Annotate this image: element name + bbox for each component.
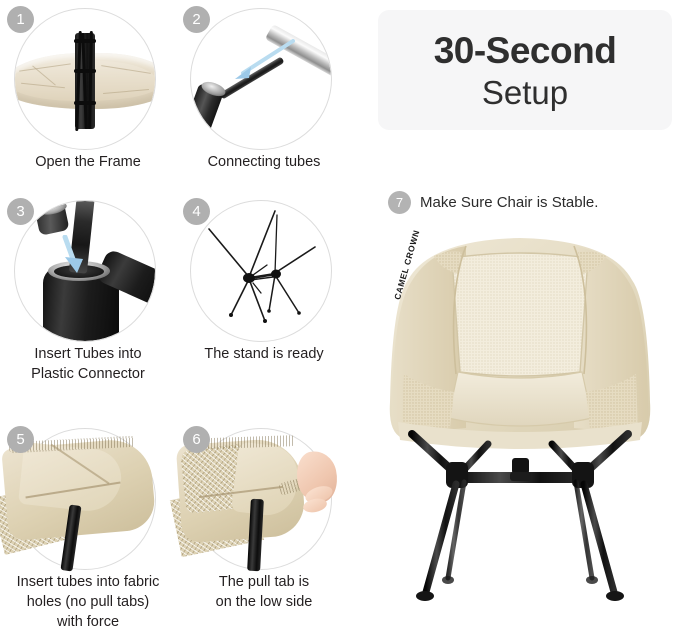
- insert-direction-arrow: [227, 39, 299, 88]
- hero-title-card: 30-Second Setup: [378, 10, 672, 130]
- step-7-caption: Make Sure Chair is Stable.: [420, 194, 598, 211]
- step-7: 7 Make Sure Chair is Stable.: [388, 191, 598, 214]
- step-6-circle-frame: [190, 428, 332, 570]
- hero-column: 30-Second Setup 7 Make Sure Chair is Sta…: [360, 0, 679, 632]
- step-6: 6 The pull tab is on the low side: [176, 424, 348, 612]
- step-1-caption: Open the Frame: [0, 152, 176, 172]
- chair-illustration: [370, 222, 670, 622]
- step-4-caption: The stand is ready: [176, 344, 352, 364]
- assembled-chair-photo: CAMEL CROWN: [370, 222, 670, 622]
- step-5-circle-frame: [14, 428, 156, 570]
- step-4-number-badge: 4: [183, 198, 210, 225]
- step-3: 3 Insert Tubes into Plastic Connector: [0, 196, 172, 384]
- step-1-illustration: 1: [7, 4, 165, 149]
- step-2-illustration: 2: [183, 4, 341, 149]
- assembled-pole-stand-art: [191, 201, 331, 341]
- step-5-number-badge: 5: [7, 426, 34, 453]
- step-2-caption: Connecting tubes: [176, 152, 352, 172]
- step-1-number-badge: 1: [7, 6, 34, 33]
- step-3-circle-frame: [14, 200, 156, 342]
- tube-into-plastic-connector-art: [15, 201, 155, 341]
- insert-direction-arrow: [53, 235, 89, 282]
- step-3-caption: Insert Tubes into Plastic Connector: [0, 344, 176, 384]
- step-5-illustration: 5: [7, 424, 165, 569]
- hero-title-primary: 30-Second: [378, 30, 672, 72]
- folded-chair-bundle-art: [15, 9, 155, 149]
- setup-instructions-page: 1 Open the Frame: [0, 0, 679, 632]
- step-6-illustration: 6: [183, 424, 341, 569]
- step-2-circle-frame: [190, 8, 332, 150]
- tube-into-fabric-corner-art: [15, 429, 155, 569]
- step-2-number-badge: 2: [183, 6, 210, 33]
- step-1: 1 Open the Frame: [0, 4, 172, 172]
- hand-pulling-fabric-tab-art: [191, 429, 331, 569]
- step-3-illustration: 3: [7, 196, 165, 341]
- step-4-illustration: 4: [183, 196, 341, 341]
- step-7-number-badge: 7: [388, 191, 411, 214]
- two-tubes-joining-art: [191, 9, 331, 149]
- step-2: 2 Connecting tubes: [176, 4, 348, 172]
- step-4-circle-frame: [190, 200, 332, 342]
- step-3-number-badge: 3: [7, 198, 34, 225]
- step-6-number-badge: 6: [183, 426, 210, 453]
- steps-column: 1 Open the Frame: [0, 0, 355, 632]
- step-5-caption: Insert tubes into fabric holes (no pull …: [0, 572, 176, 632]
- step-6-caption: The pull tab is on the low side: [176, 572, 352, 612]
- step-1-circle-frame: [14, 8, 156, 150]
- step-4: 4 The stand is ready: [176, 196, 348, 364]
- hero-title-secondary: Setup: [378, 74, 672, 112]
- step-5: 5 Insert tubes into fabric holes (no pul…: [0, 424, 172, 632]
